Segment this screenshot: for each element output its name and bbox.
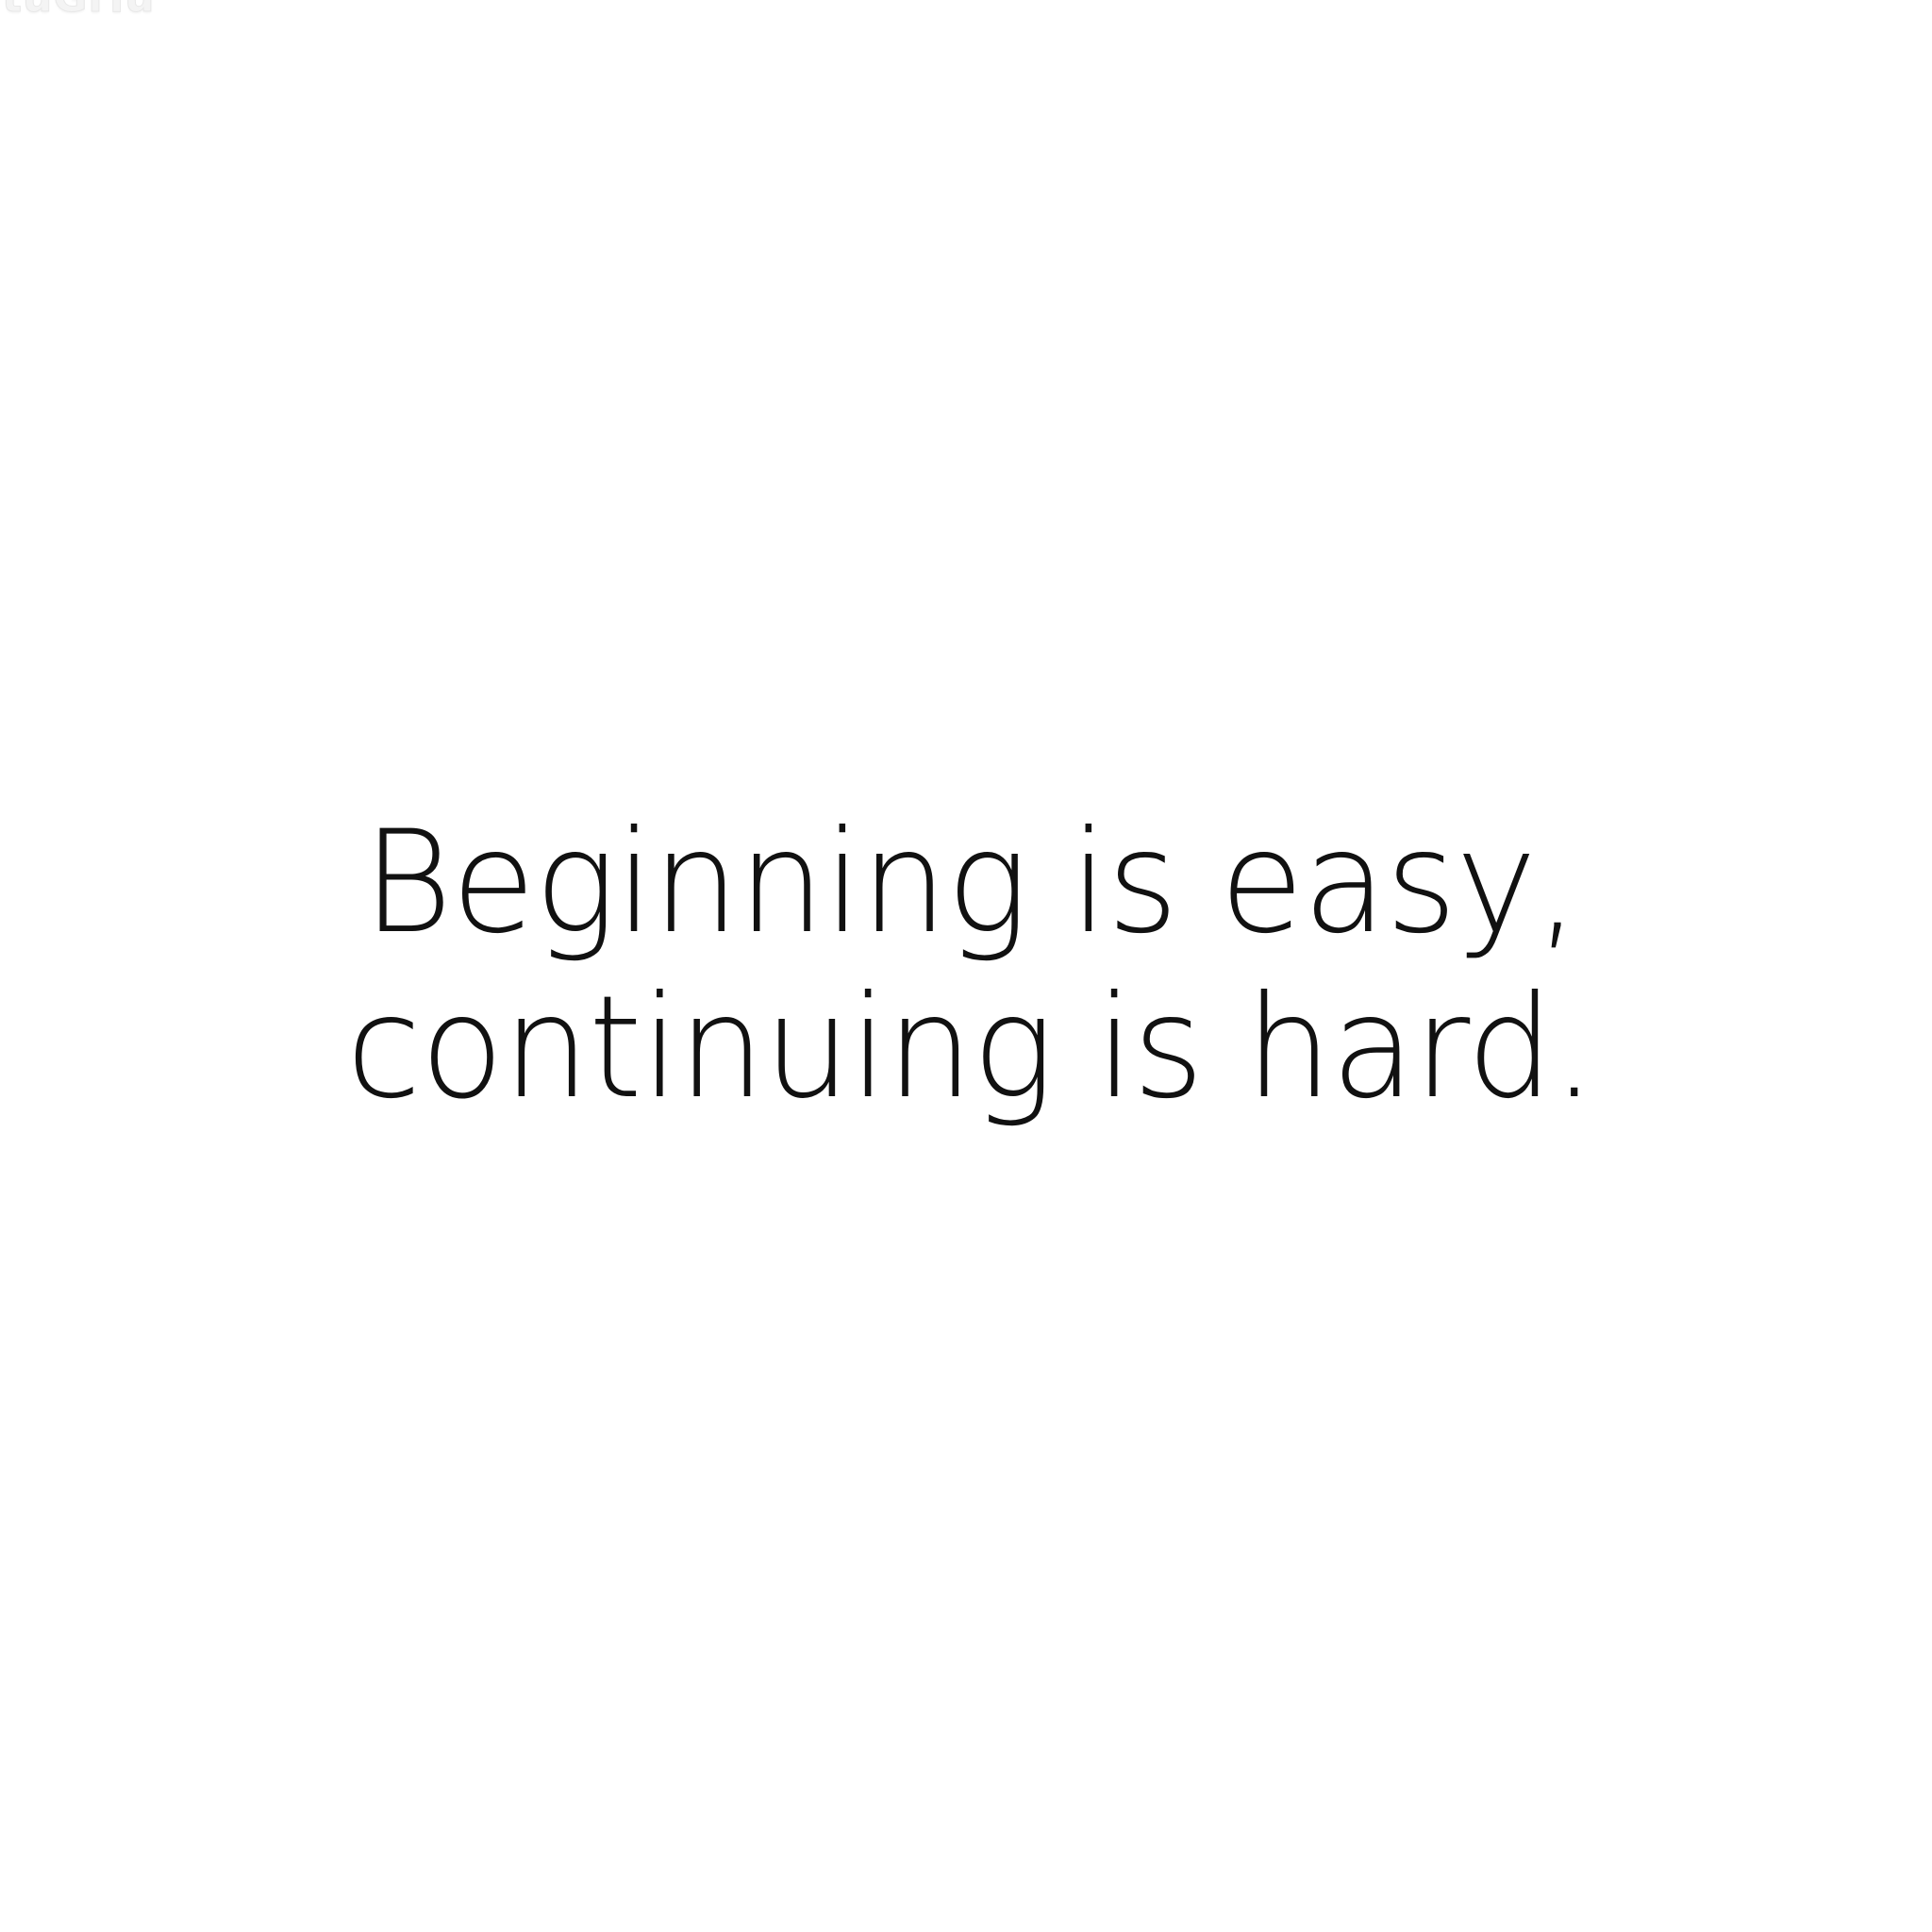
quote-card-canvas: tuGriu Beginning is easy, continuing is … [0,0,1932,1932]
quote-line-1: Beginning is easy, [346,801,1595,966]
quote-text: Beginning is easy, continuing is hard. [324,801,1618,1131]
quote-block: Beginning is easy, continuing is hard. [0,0,1932,1932]
quote-line-2: continuing is hard. [346,966,1595,1131]
